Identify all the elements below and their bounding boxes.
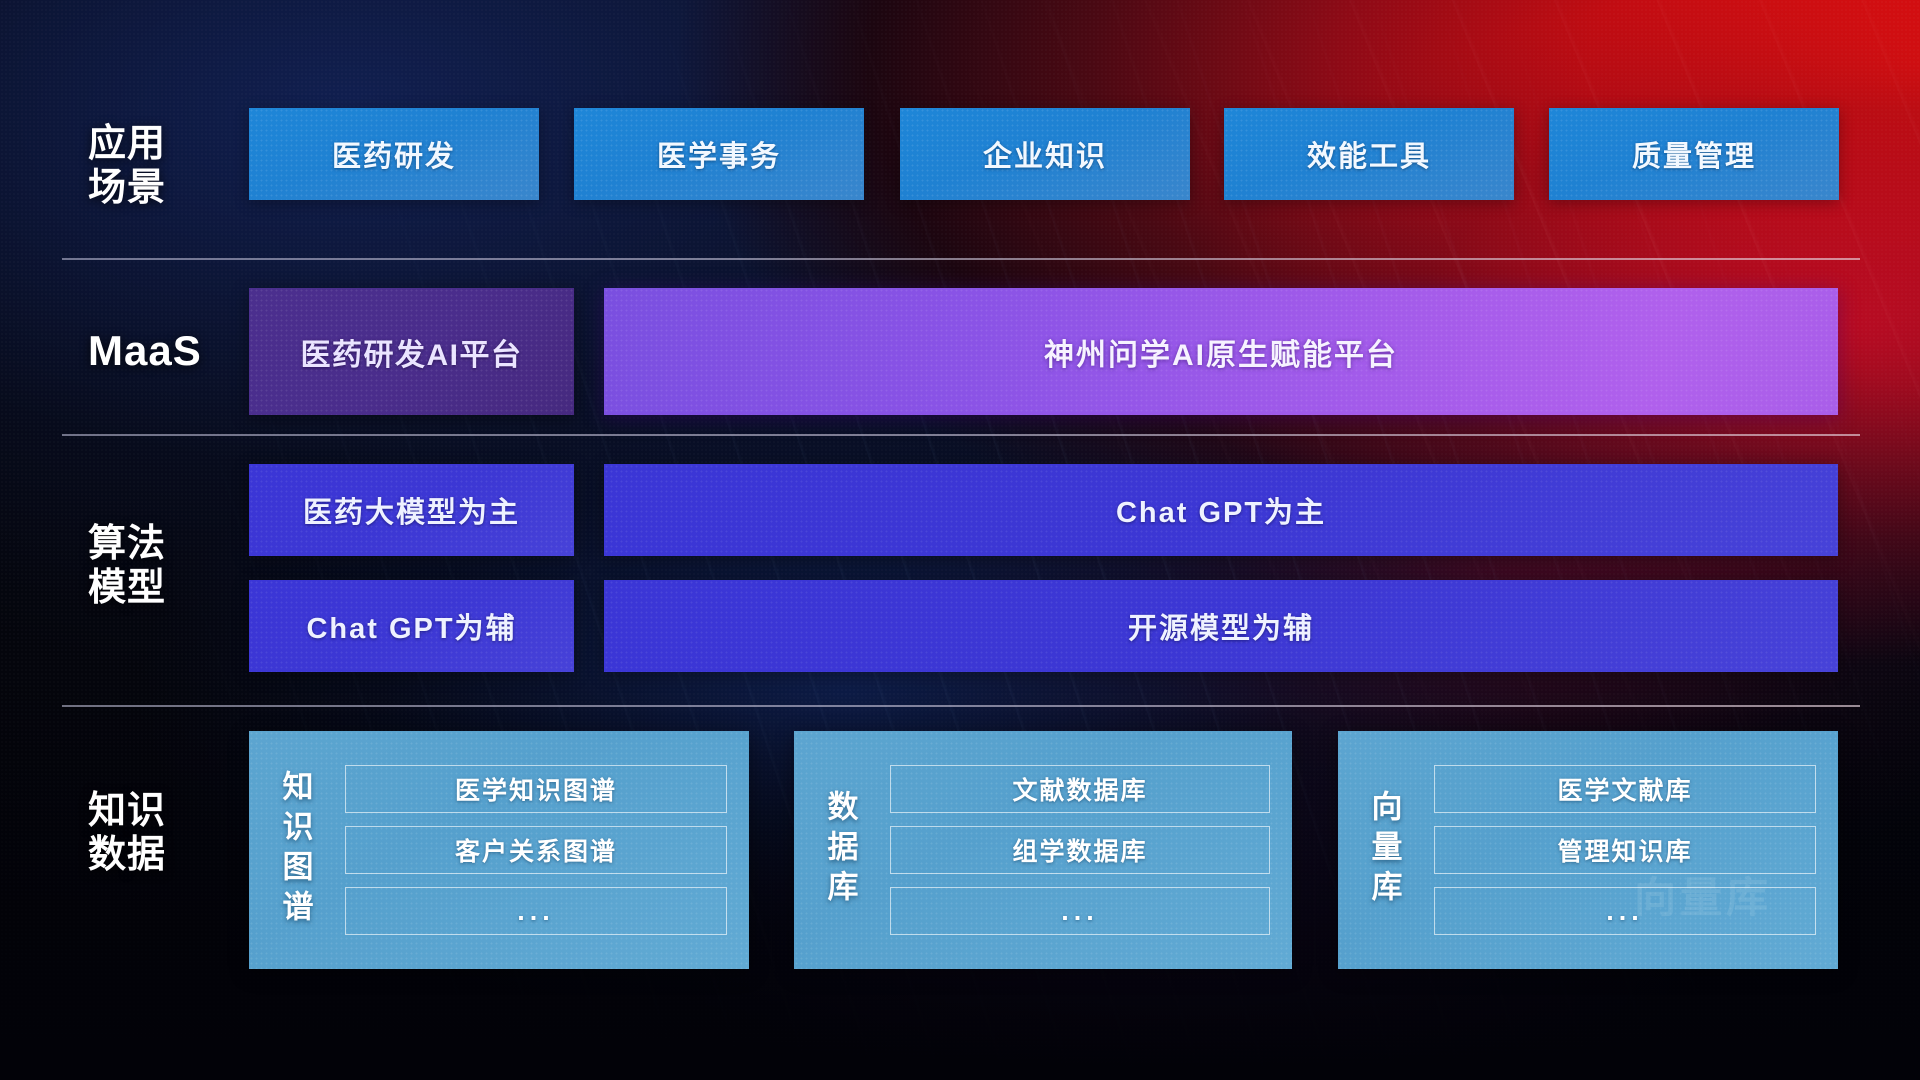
app-box-label: 医学事务	[657, 133, 781, 175]
row-algorithm-models: 算法 模型 医药大模型为主 Chat GPT为主 Chat GPT为辅 开源模型…	[0, 464, 1920, 672]
knowledge-group-title: 知识图谱	[249, 731, 341, 969]
row-maas: MaaS 医药研发AI平台 神州问学AI原生赋能平台	[0, 288, 1920, 415]
maas-box-label: 神州问学AI原生赋能平台	[1044, 330, 1398, 374]
app-box-label: 质量管理	[1632, 133, 1756, 175]
app-box-label: 效能工具	[1307, 133, 1431, 175]
row-label-line-2: 模型	[88, 566, 238, 610]
app-box-enterprise-knowledge[interactable]: 企业知识	[900, 108, 1190, 200]
algo-box-label: Chat GPT为主	[1116, 489, 1326, 531]
row-label-line-1: 应用	[88, 122, 238, 166]
app-box-medicine-rd[interactable]: 医药研发	[249, 108, 539, 200]
app-box-quality-management[interactable]: 质量管理	[1549, 108, 1839, 200]
divider-1	[62, 258, 1860, 260]
maas-box-medicine-ai-platform[interactable]: 医药研发AI平台	[249, 288, 574, 415]
knowledge-item[interactable]: 医学知识图谱	[345, 765, 727, 813]
knowledge-group-vector-store[interactable]: 向量库 向量库 医学文献库 管理知识库 ...	[1338, 731, 1838, 969]
row-label-algorithm-models: 算法 模型	[88, 522, 238, 611]
row-label-line-1: 知识	[88, 789, 238, 833]
knowledge-group-title: 向量库	[1338, 731, 1430, 969]
app-box-medical-affairs[interactable]: 医学事务	[574, 108, 864, 200]
row-label-knowledge-data: 知识 数据	[88, 789, 238, 878]
algo-box-label: Chat GPT为辅	[306, 605, 516, 647]
knowledge-item[interactable]: 管理知识库	[1434, 826, 1816, 874]
algo-box-label: 医药大模型为主	[303, 489, 520, 531]
row-label-line-2: 场景	[88, 166, 238, 210]
divider-2	[62, 434, 1860, 436]
knowledge-item[interactable]: 组学数据库	[890, 826, 1270, 874]
knowledge-item-more[interactable]: ...	[345, 887, 727, 935]
maas-box-shenzhou-wenxue-platform[interactable]: 神州问学AI原生赋能平台	[604, 288, 1838, 415]
knowledge-group-item-list: 文献数据库 组学数据库 ...	[886, 731, 1292, 969]
maas-box-label: 医药研发AI平台	[301, 330, 523, 374]
row-knowledge-data: 知识 数据 知识图谱 医学知识图谱 客户关系图谱 ... 数据库 文献数据库 组…	[0, 731, 1920, 969]
algo-box-label: 开源模型为辅	[1128, 605, 1314, 647]
knowledge-item-more[interactable]: ...	[1434, 887, 1816, 935]
row-label-line-2: 数据	[88, 833, 238, 877]
knowledge-group-item-list: 医学文献库 管理知识库 ...	[1430, 731, 1838, 969]
knowledge-item[interactable]: 客户关系图谱	[345, 826, 727, 874]
architecture-diagram: 应用 场景 医药研发 医学事务 企业知识 效能工具 质量管理 MaaS 医药研发…	[0, 0, 1920, 1080]
knowledge-group-title: 数据库	[794, 731, 886, 969]
algo-box-medicine-llm-primary[interactable]: 医药大模型为主	[249, 464, 574, 556]
knowledge-group-item-list: 医学知识图谱 客户关系图谱 ...	[341, 731, 749, 969]
algo-box-chatgpt-primary[interactable]: Chat GPT为主	[604, 464, 1838, 556]
app-box-label: 企业知识	[983, 133, 1107, 175]
knowledge-group-database[interactable]: 数据库 文献数据库 组学数据库 ...	[794, 731, 1292, 969]
app-box-label: 医药研发	[332, 133, 456, 175]
row-label-maas: MaaS	[88, 326, 238, 375]
knowledge-item[interactable]: 文献数据库	[890, 765, 1270, 813]
knowledge-item-more[interactable]: ...	[890, 887, 1270, 935]
knowledge-item[interactable]: 医学文献库	[1434, 765, 1816, 813]
algo-box-chatgpt-secondary[interactable]: Chat GPT为辅	[249, 580, 574, 672]
knowledge-group-knowledge-graph[interactable]: 知识图谱 医学知识图谱 客户关系图谱 ...	[249, 731, 749, 969]
divider-3	[62, 705, 1860, 707]
row-label-application-scenarios: 应用 场景	[88, 122, 238, 211]
row-application-scenarios: 应用 场景 医药研发 医学事务 企业知识 效能工具 质量管理	[0, 108, 1920, 200]
row-label-line-1: 算法	[88, 522, 238, 566]
algo-box-opensource-secondary[interactable]: 开源模型为辅	[604, 580, 1838, 672]
app-box-efficiency-tools[interactable]: 效能工具	[1224, 108, 1514, 200]
